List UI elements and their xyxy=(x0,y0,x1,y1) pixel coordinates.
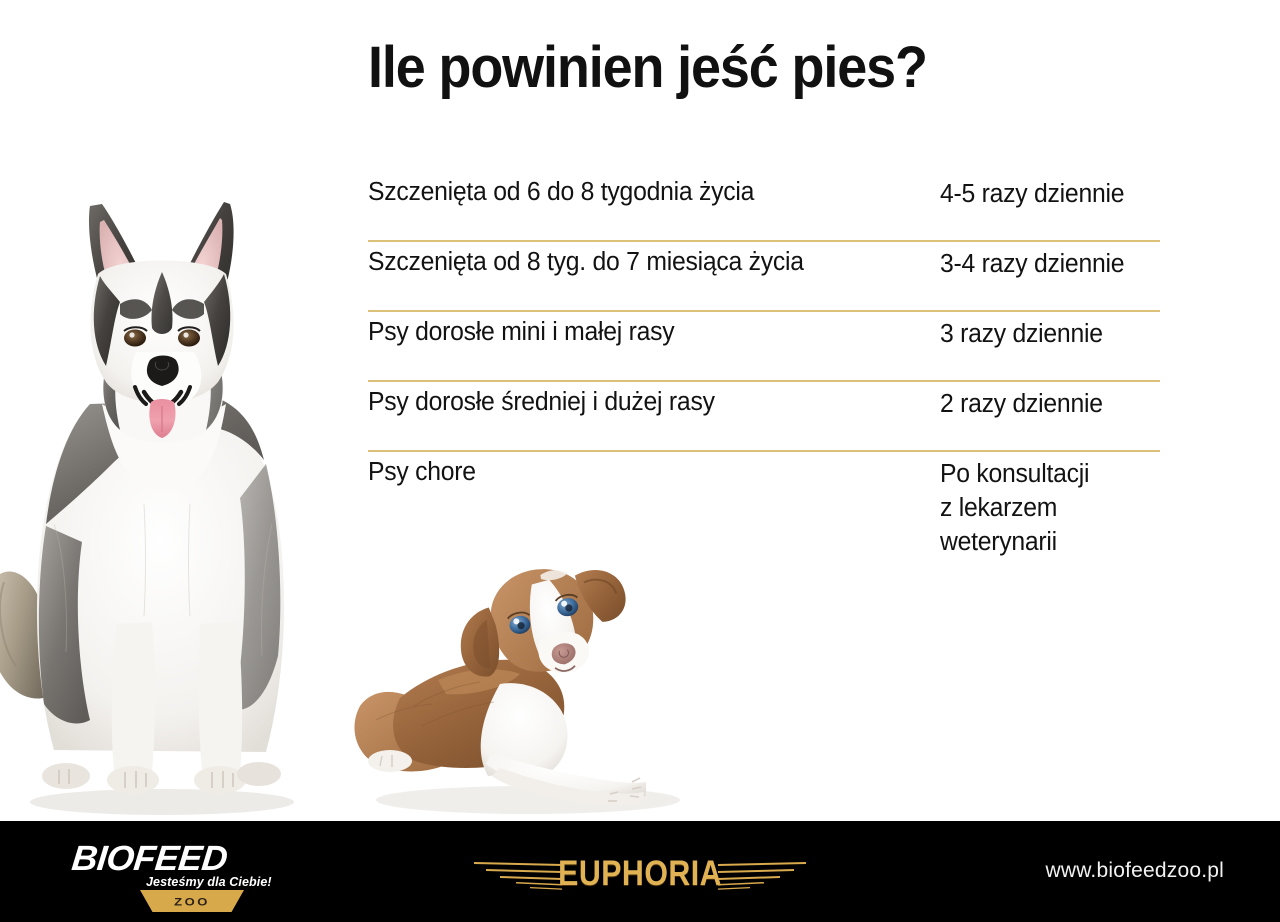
row-label: Psy dorosłe mini i małej rasy xyxy=(368,312,923,347)
table-row: Szczenięta od 6 do 8 tygodnia życia 4-5 … xyxy=(368,172,1160,242)
row-value: 2 razy dziennie xyxy=(940,382,1153,421)
page-title: Ile powinien jeść pies? xyxy=(368,38,927,99)
euphoria-logo[interactable]: EUPHORIA xyxy=(472,847,808,899)
row-value: Po konsultacji z lekarzem weterynarii xyxy=(940,452,1153,559)
speed-lines-left-icon xyxy=(472,855,564,891)
website-url[interactable]: www.biofeedzoo.pl xyxy=(1045,859,1224,883)
puppy-dog-photo xyxy=(342,556,710,822)
row-label: Szczenięta od 8 tyg. do 7 miesiąca życia xyxy=(368,242,923,277)
row-value-line: z lekarzem xyxy=(940,491,1153,525)
row-value: 3-4 razy dziennie xyxy=(940,242,1153,281)
row-value: 3 razy dziennie xyxy=(940,312,1153,351)
row-value-line: 2 razy dziennie xyxy=(940,387,1153,421)
table-row: Szczenięta od 8 tyg. do 7 miesiąca życia… xyxy=(368,242,1160,312)
row-value-line: 3-4 razy dziennie xyxy=(940,247,1153,281)
husky-dog-photo xyxy=(0,104,326,816)
zoo-badge-label: ZOO xyxy=(174,895,210,908)
speed-lines-right-icon xyxy=(716,855,808,891)
row-value-line: 3 razy dziennie xyxy=(940,317,1153,351)
row-label: Psy dorosłe średniej i dużej rasy xyxy=(368,382,923,417)
feeding-frequency-table: Szczenięta od 6 do 8 tygodnia życia 4-5 … xyxy=(368,172,1160,568)
table-row: Psy dorosłe średniej i dużej rasy 2 razy… xyxy=(368,382,1160,452)
biofeed-wordmark: BIOFEED xyxy=(70,839,229,879)
infographic-poster: Ile powinien jeść pies? Szczenięta od 6 … xyxy=(0,0,1280,922)
table-row: Psy dorosłe mini i małej rasy 3 razy dzi… xyxy=(368,312,1160,382)
row-value: 4-5 razy dziennie xyxy=(940,172,1153,211)
row-label: Szczenięta od 6 do 8 tygodnia życia xyxy=(368,172,923,207)
footer-bar: BIOFEED Jesteśmy dla Ciebie! ZOO xyxy=(0,821,1280,922)
euphoria-wordmark: EUPHORIA xyxy=(558,852,722,893)
biofeed-logo[interactable]: BIOFEED Jesteśmy dla Ciebie! ZOO xyxy=(62,833,302,913)
table-row: Psy chore Po konsultacji z lekarzem wete… xyxy=(368,452,1160,568)
row-label: Psy chore xyxy=(368,452,923,487)
row-value-line: Po konsultacji xyxy=(940,457,1153,491)
zoo-badge: ZOO xyxy=(140,890,244,912)
biofeed-tagline: Jesteśmy dla Ciebie! xyxy=(146,875,272,889)
row-value-line: 4-5 razy dziennie xyxy=(940,177,1153,211)
row-value-line: weterynarii xyxy=(940,525,1153,559)
